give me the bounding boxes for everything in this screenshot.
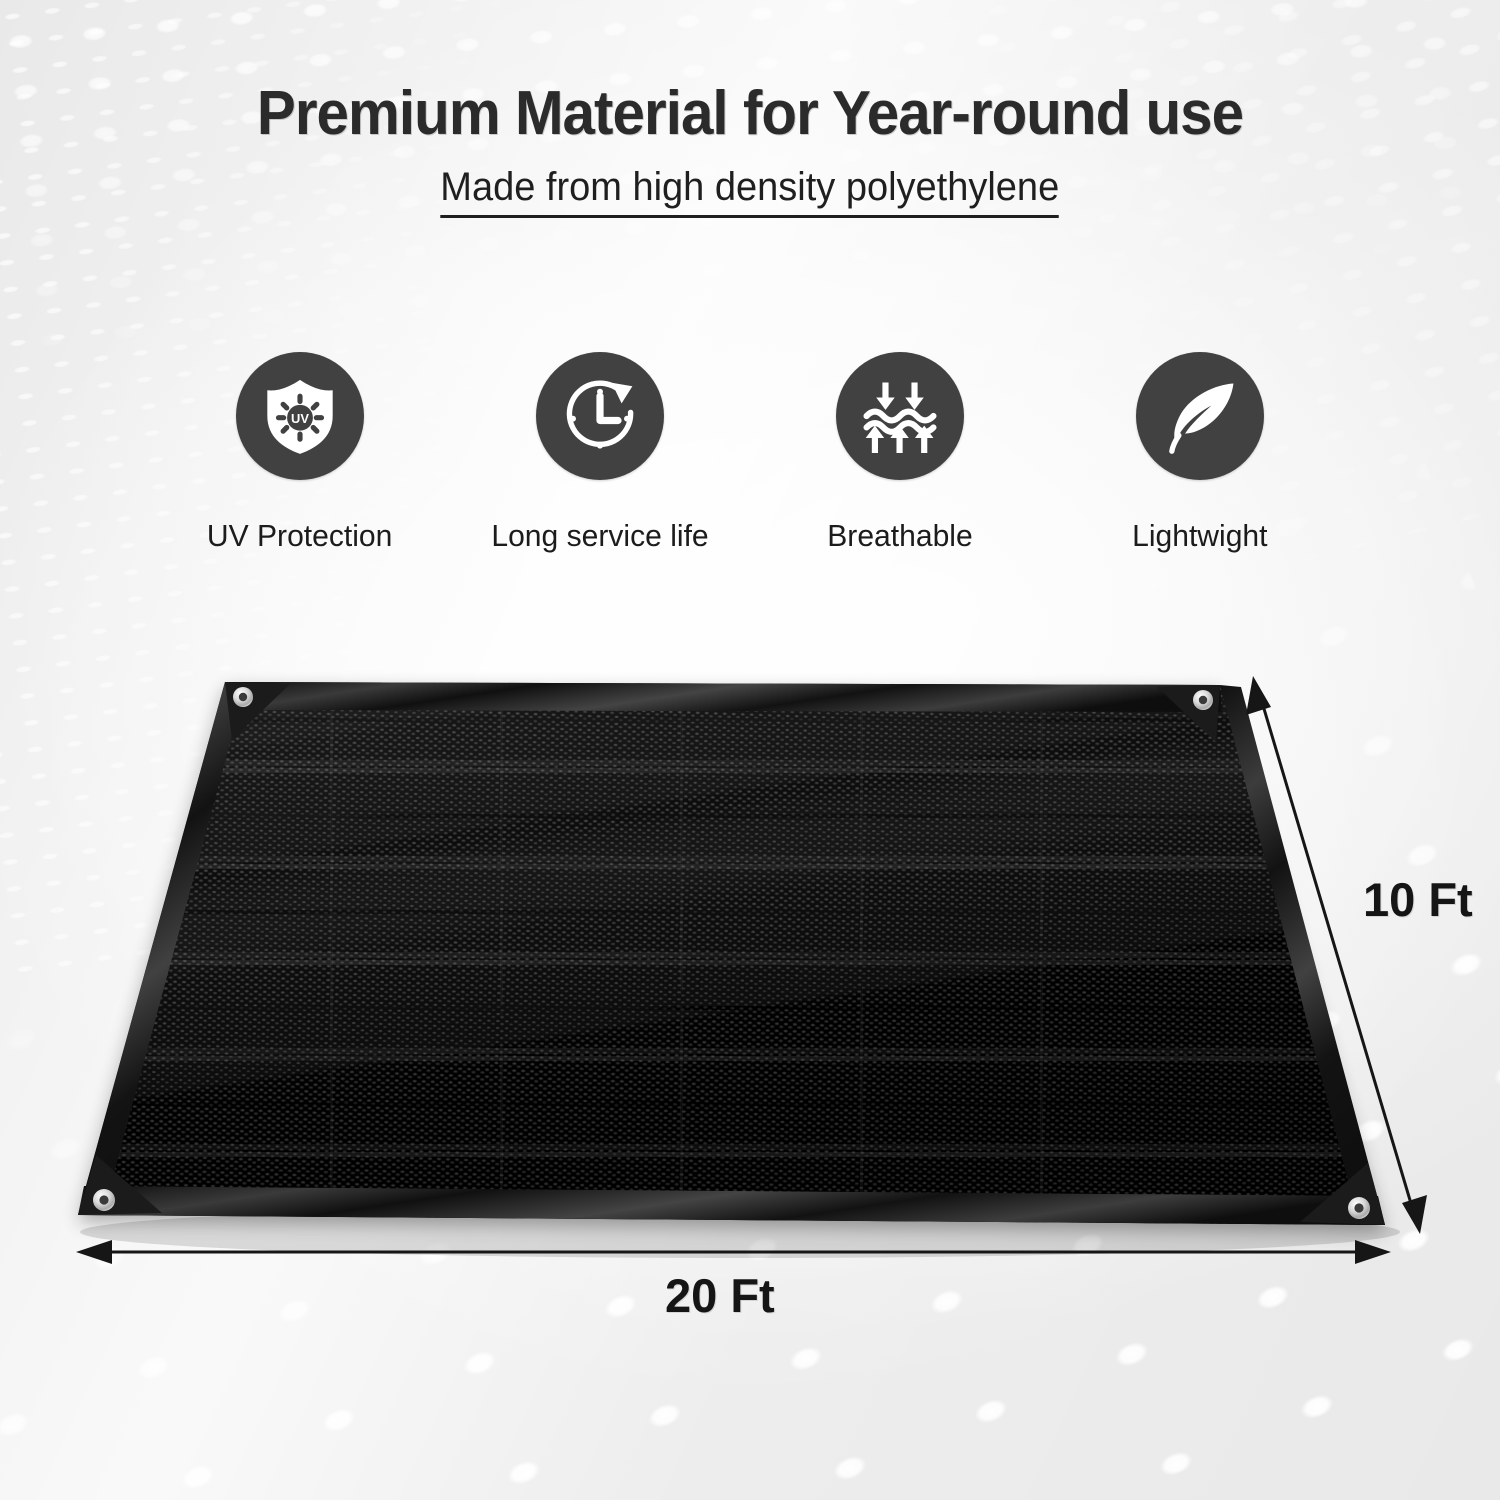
- dimension-label-height: 10 Ft: [1363, 872, 1473, 927]
- infographic-canvas: Premium Material for Year-round use Made…: [0, 0, 1500, 1500]
- shade-cloth-body: [78, 660, 1385, 1260]
- dimension-label-width: 20 Ft: [665, 1268, 775, 1323]
- product-illustration: 20 Ft 10 Ft: [0, 0, 1500, 1500]
